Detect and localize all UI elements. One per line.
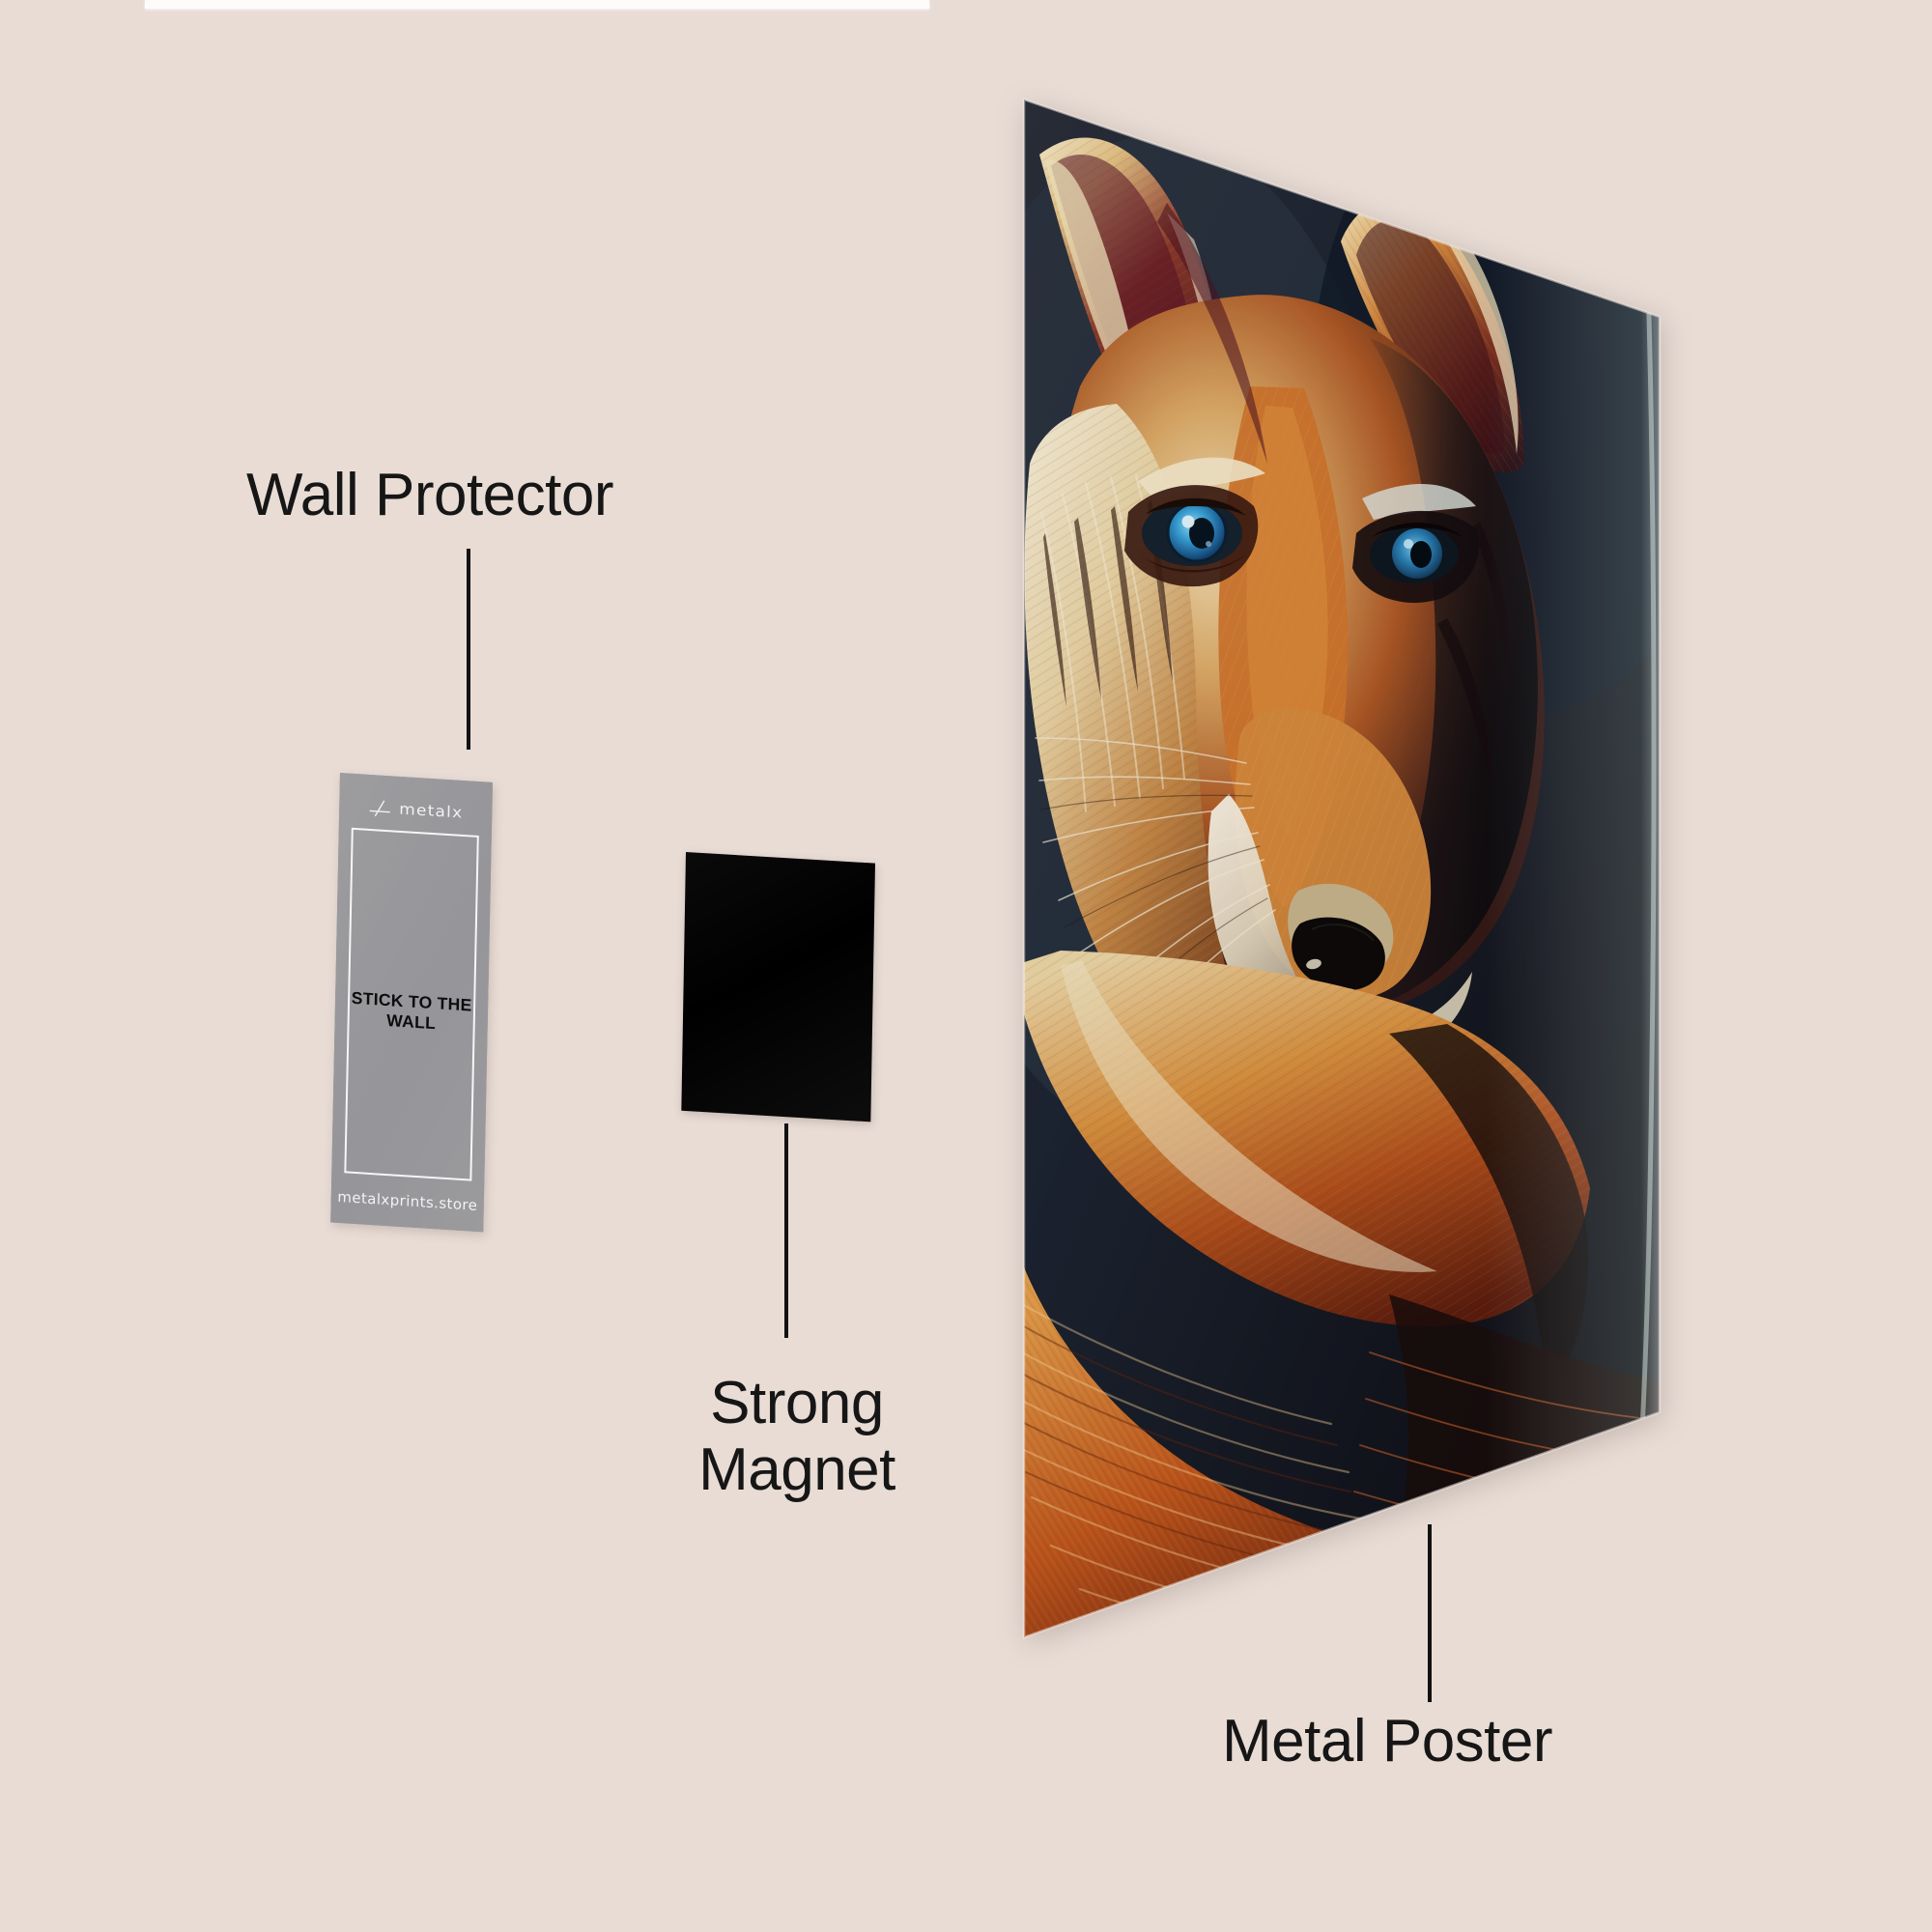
leader-line-strong-magnet — [784, 1123, 788, 1338]
wall-protector-card[interactable]: metalx STICK TO THE WALL metalxprints.st… — [330, 773, 493, 1232]
metal-poster-artwork[interactable] — [1022, 97, 1662, 1642]
fox-portrait-illustration — [1022, 97, 1662, 1642]
strong-magnet-tile[interactable] — [681, 852, 875, 1122]
leader-line-metal-poster — [1428, 1524, 1432, 1702]
brand-name-text: metalx — [399, 801, 463, 823]
brand-logo: metalx — [339, 795, 492, 826]
callout-label-metal-poster: Metal Poster — [1222, 1708, 1552, 1775]
metalx-cross-icon — [368, 798, 393, 819]
callout-label-wall-protector: Wall Protector — [246, 462, 613, 528]
callout-label-strong-magnet: Strong Magnet — [676, 1370, 918, 1504]
wall-protector-card-face: metalx STICK TO THE WALL metalxprints.st… — [330, 773, 493, 1232]
leader-line-wall-protector — [467, 549, 470, 750]
store-url-text: metalxprints.store — [331, 1187, 484, 1214]
top-white-strip — [145, 0, 929, 9]
infographic-canvas: Wall Protector metalx STICK TO THE WALL … — [0, 0, 1932, 1932]
